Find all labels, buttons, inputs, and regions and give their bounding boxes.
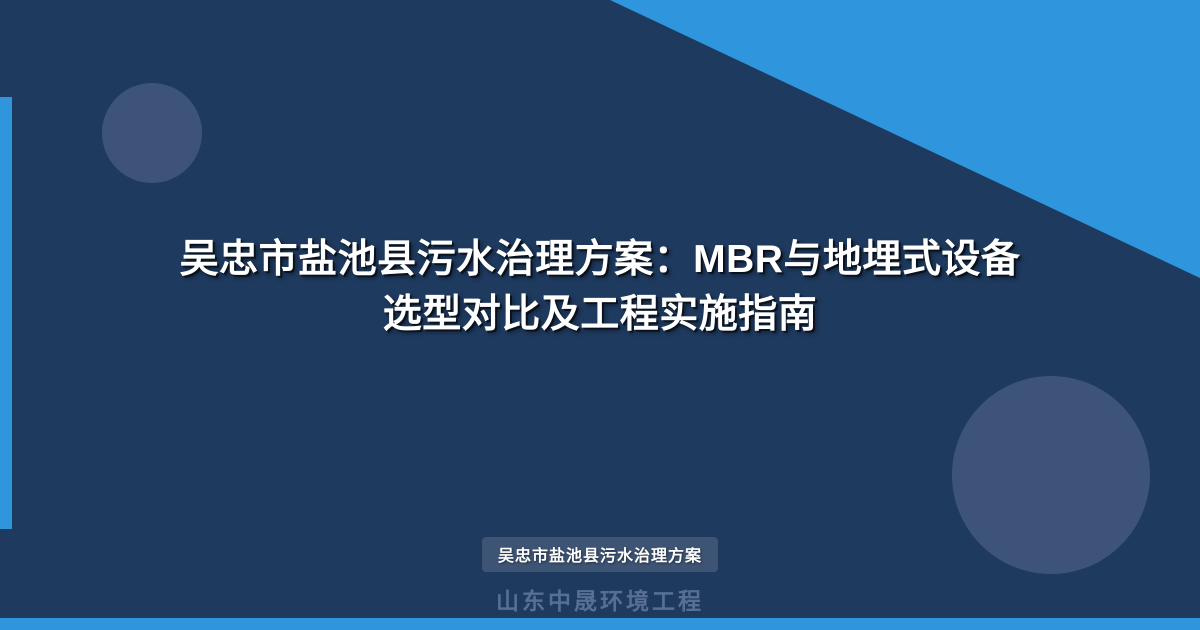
- title-slide: 吴忠市盐池县污水治理方案：MBR与地埋式设备 选型对比及工程实施指南 吴忠市盐池…: [0, 0, 1200, 630]
- footer-block: 吴忠市盐池县污水治理方案 山东中晟环境工程: [0, 537, 1200, 616]
- decorative-circle-top-left: [102, 83, 202, 183]
- bottom-accent-bar: [0, 618, 1200, 630]
- page-title: 吴忠市盐池县污水治理方案：MBR与地埋式设备 选型对比及工程实施指南: [80, 232, 1120, 343]
- footer-brand-name: 山东中晟环境工程: [0, 582, 1200, 616]
- title-block: 吴忠市盐池县污水治理方案：MBR与地埋式设备 选型对比及工程实施指南: [0, 232, 1200, 343]
- footer-topic-badge: 吴忠市盐池县污水治理方案: [482, 537, 718, 572]
